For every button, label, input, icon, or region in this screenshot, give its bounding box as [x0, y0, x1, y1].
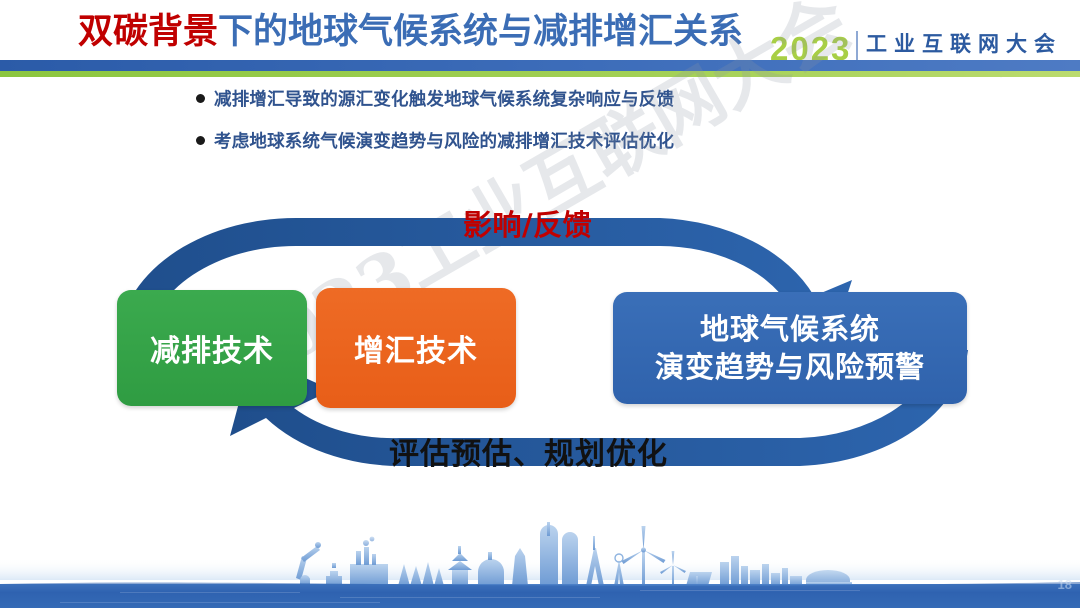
- arrow-top-label: 影响/反馈: [463, 202, 592, 244]
- list-item: 减排增汇导致的源汇变化触发地球气候系统复杂响应与反馈: [196, 86, 956, 111]
- divider-bar-green: [0, 71, 1080, 77]
- bullet-dot-icon: [196, 136, 205, 145]
- box-climate-system[interactable]: 地球气候系统 演变趋势与风险预警: [613, 292, 967, 404]
- box-sink-enhancement[interactable]: 增汇技术: [316, 288, 516, 408]
- arrow-bottom-label: 评估预估、规划优化: [389, 429, 668, 473]
- page-number: 18: [1058, 577, 1072, 592]
- skyline-graphic: [0, 518, 1080, 608]
- footer-skyline: 18: [0, 518, 1080, 608]
- title-text: 双碳背景下的地球气候系统与减排增汇关系: [78, 10, 743, 54]
- title-rest: 下的地球气候系统与减排增汇关系: [218, 12, 743, 52]
- skyline-silhouette: [296, 522, 852, 586]
- box-climate-system-line2: 演变趋势与风险预警: [655, 348, 925, 386]
- title-highlight: 双碳背景: [78, 12, 218, 52]
- logo-chinese-name: 工业互联网大会: [866, 32, 1062, 57]
- box-emission-reduction[interactable]: 减排技术: [117, 290, 307, 406]
- box-climate-system-line1: 地球气候系统: [655, 310, 925, 348]
- list-item: 考虑地球系统气候演变趋势与风险的减排增汇技术评估优化: [196, 128, 956, 153]
- bullet-text: 减排增汇导致的源汇变化触发地球气候系统复杂响应与反馈: [214, 86, 674, 111]
- slide-canvas: 双碳背景下的地球气候系统与减排增汇关系 2023 中国·苏州 8月18日-19日…: [0, 0, 1080, 608]
- divider-bar-blue: [0, 60, 1080, 71]
- bullet-text: 考虑地球系统气候演变趋势与风险的减排增汇技术评估优化: [214, 128, 674, 153]
- bullet-list: 减排增汇导致的源汇变化触发地球气候系统复杂响应与反馈 考虑地球系统气候演变趋势与…: [196, 86, 956, 170]
- bullet-dot-icon: [196, 94, 205, 103]
- cycle-diagram: 减排技术 增汇技术 地球气候系统 演变趋势与风险预警 影响/反馈 评估预估、规划…: [100, 168, 1000, 508]
